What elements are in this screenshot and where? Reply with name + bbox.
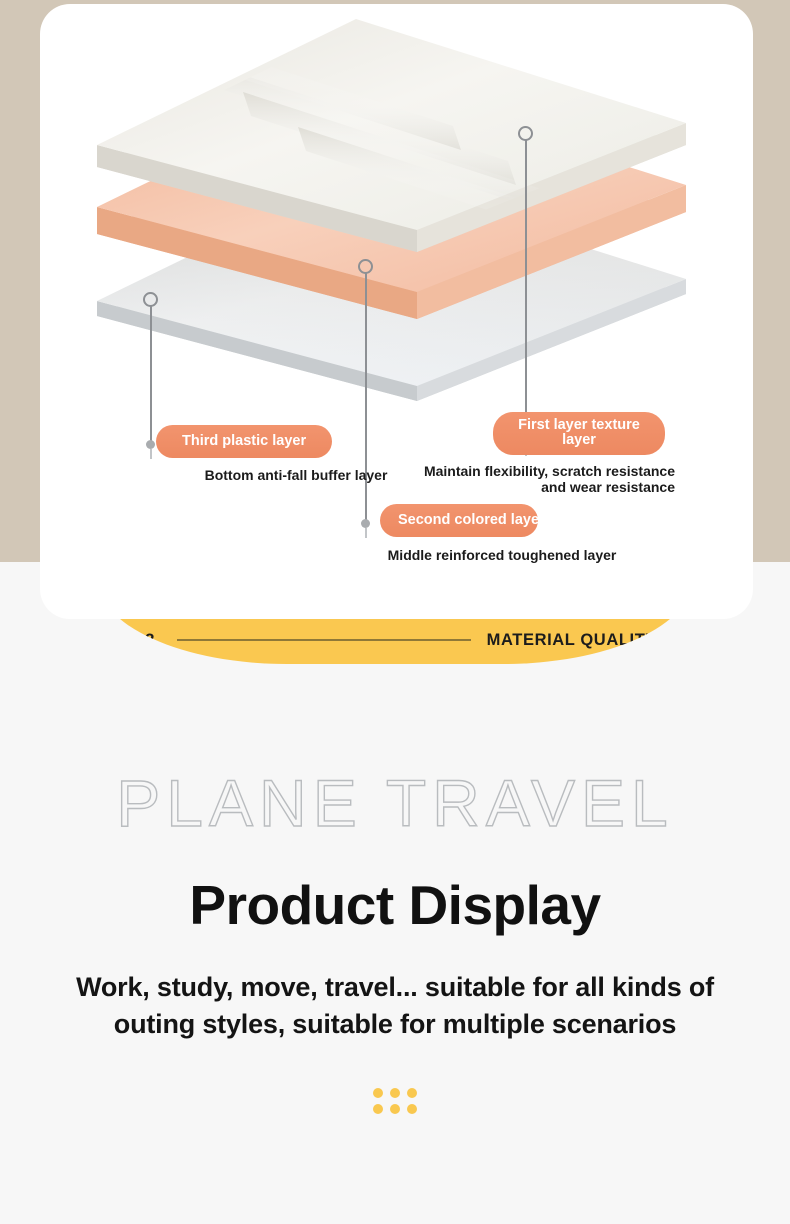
marker-ring-icon <box>518 126 533 141</box>
decor-dot <box>390 1104 400 1114</box>
marker-endpoint-dot <box>361 519 370 528</box>
layer-description-second: Middle reinforced toughened layer <box>364 547 640 564</box>
marker-ring-icon <box>143 292 158 307</box>
dot-decoration <box>373 1088 417 1114</box>
decor-dot <box>373 1088 383 1098</box>
page-root: 02 MATERIAL QUALITY <box>0 0 790 1224</box>
section-number: 02 <box>135 630 155 650</box>
layer-description-third: Bottom anti-fall buffer layer <box>156 467 436 484</box>
decor-dot <box>390 1088 400 1098</box>
marker-leader-tail <box>365 528 367 538</box>
marker-endpoint-dot <box>146 440 155 449</box>
layer-label-third: Third plastic layer Bottom anti-fall buf… <box>156 425 456 484</box>
layer-badge-second[interactable]: Second colored layer <box>380 504 538 537</box>
marker-leader-line <box>365 273 367 523</box>
material-quality-card: Third plastic layer Bottom anti-fall buf… <box>40 4 753 619</box>
marker-ring-icon <box>358 259 373 274</box>
layer-badge-first[interactable]: First layer texture layer <box>493 412 665 455</box>
layer-label-second: Second colored layer Middle reinforced t… <box>380 504 680 564</box>
product-display-section: PLANE TRAVEL Product Display Work, study… <box>0 700 790 1114</box>
page-subtitle: Work, study, move, travel... suitable fo… <box>75 969 715 1044</box>
outline-heading: PLANE TRAVEL <box>0 700 790 836</box>
layer-badge-third[interactable]: Third plastic layer <box>156 425 332 458</box>
decor-dot <box>373 1104 383 1114</box>
layer-stack-illustration <box>40 4 753 424</box>
section-label: MATERIAL QUALITY <box>487 631 657 650</box>
decor-dot <box>407 1104 417 1114</box>
page-title: Product Display <box>0 878 790 933</box>
layer-description-first: Maintain flexibility, scratch resistance… <box>423 463 675 496</box>
decor-dot <box>407 1088 417 1098</box>
layer-label-first: First layer texture layer Maintain flexi… <box>493 412 753 496</box>
marker-leader-line <box>525 140 527 440</box>
marker-leader-line <box>150 306 152 444</box>
marker-leader-tail <box>150 449 152 459</box>
section-divider-rule <box>177 639 471 641</box>
